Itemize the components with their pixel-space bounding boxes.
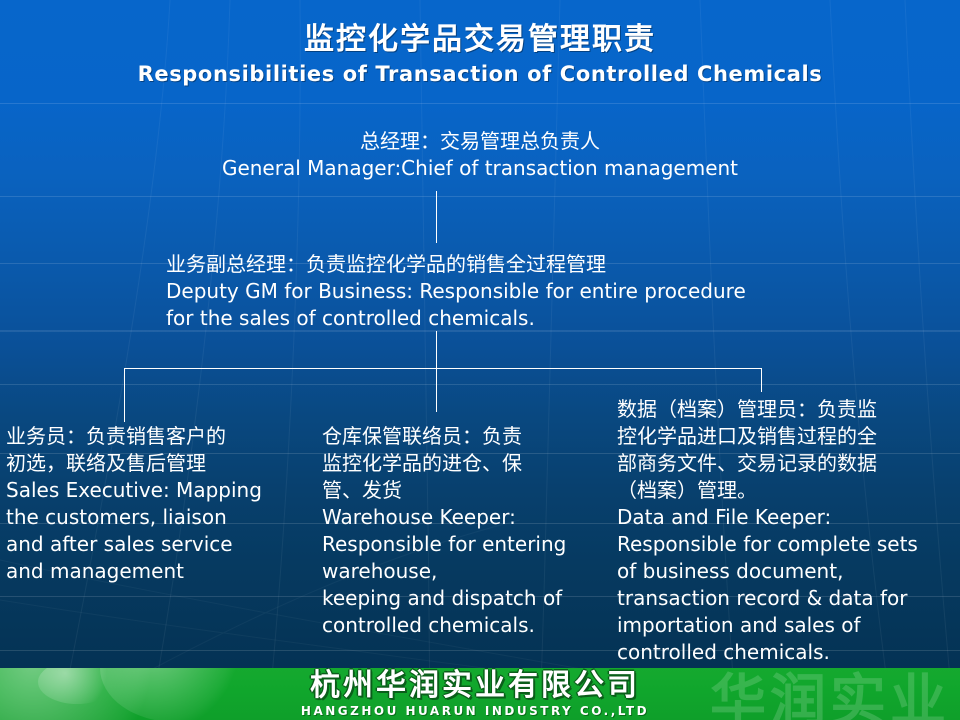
org-node-deputy-gm-en: Deputy GM for Business: Responsible for … [166,278,866,332]
footer-company: 杭州华润实业有限公司 HANGZHOU HUARUN INDUSTRY CO.,… [195,670,755,719]
footer-company-en: HANGZHOU HUARUN INDUSTRY CO.,LTD [195,703,755,719]
background-band [0,103,960,104]
presentation-slide: 监控化学品交易管理职责 Responsibilities of Transact… [0,0,960,720]
connector-level3-bus [124,368,762,369]
footer-company-cn: 杭州华润实业有限公司 [195,670,755,702]
org-node-data-file-keeper-en: Data and File Keeper: Responsible for co… [617,504,955,666]
org-node-warehouse-keeper-cn: 仓库保管联络员：负责 监控化学品的进仓、保 管、发货 [322,423,612,504]
slide-title: 监控化学品交易管理职责 Responsibilities of Transact… [0,22,960,88]
connector-to-data-file-keeper [761,368,762,392]
background-band [0,196,960,197]
org-node-deputy-gm: 业务副总经理：负责监控化学品的销售全过程管理 Deputy GM for Bus… [166,251,866,332]
slide-title-cn: 监控化学品交易管理职责 [0,22,960,58]
org-node-warehouse-keeper: 仓库保管联络员：负责 监控化学品的进仓、保 管、发货 Warehouse Kee… [322,423,612,639]
org-node-general-manager-en: General Manager:Chief of transaction man… [0,155,960,182]
connector-to-sales-executive [124,368,125,422]
slide-title-en: Responsibilities of Transaction of Contr… [0,60,960,88]
org-node-warehouse-keeper-en: Warehouse Keeper: Responsible for enteri… [322,504,612,639]
org-node-sales-executive-cn: 业务员：负责销售客户的 初选，联络及售后管理 [6,423,306,477]
org-node-sales-executive-en: Sales Executive: Mapping the customers, … [6,477,306,585]
connector-gm-to-deputy [436,191,437,243]
background-band [0,384,960,385]
org-node-general-manager-cn: 总经理：交易管理总负责人 [0,128,960,155]
connector-deputy-stem [436,331,437,412]
org-node-data-file-keeper: 数据（档案）管理员：负责监 控化学品进口及销售过程的全 部商务文件、交易记录的数… [617,396,955,666]
footer-logo-band: 华润实业 杭州华润实业有限公司 HANGZHOU HUARUN INDUSTRY… [0,668,960,720]
org-node-general-manager: 总经理：交易管理总负责人 General Manager:Chief of tr… [0,128,960,182]
org-node-deputy-gm-cn: 业务副总经理：负责监控化学品的销售全过程管理 [166,251,866,278]
org-node-sales-executive: 业务员：负责销售客户的 初选，联络及售后管理 Sales Executive: … [6,423,306,585]
org-node-data-file-keeper-cn: 数据（档案）管理员：负责监 控化学品进口及销售过程的全 部商务文件、交易记录的数… [617,396,955,504]
